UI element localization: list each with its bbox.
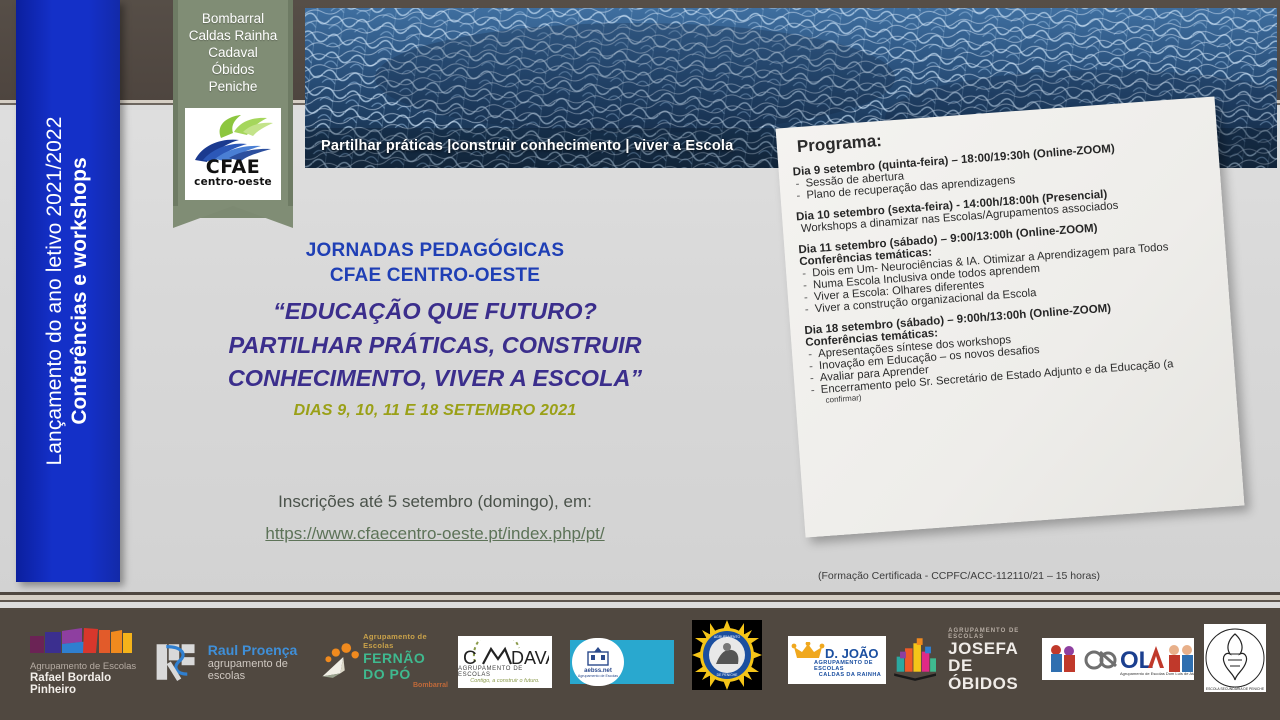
slide-canvas: Partilhar práticas |construir conhecimen… <box>0 0 1280 720</box>
registration-text: Inscrições até 5 setembro (domingo), em: <box>150 492 720 512</box>
logo-rafael-bordalo-pinheiro: Agrupamento de Escolas Rafael Bordalo Pi… <box>22 632 150 692</box>
town-item: Caldas Rainha <box>173 27 293 44</box>
logo-caption-sub: CALDAS DA RAINHA <box>819 672 881 678</box>
logo-caption-sub: DE ÓBIDOS <box>948 657 1040 692</box>
logo-dom-joao-ii: D. JOÃO II AGRUPAMENTO DE ESCOLAS CALDAS… <box>788 636 886 684</box>
crown-icon: D. JOÃO II <box>791 642 883 660</box>
cfae-logo: CFAE centro-oeste <box>185 108 281 200</box>
logo-caption-top: Raul Proença <box>208 642 305 658</box>
town-item: Bombarral <box>173 10 293 27</box>
logo-caption-top: AGRUPAMENTO DE ESCOLAS <box>814 660 886 672</box>
aebss-crest-icon <box>585 646 611 668</box>
program-panel: Programa: Dia 9 setembro (quinta-feira) … <box>776 96 1245 537</box>
partner-logos: Agrupamento de Escolas Rafael Bordalo Pi… <box>0 608 1280 720</box>
ribbon-town-list: Bombarral Caldas Rainha Cadaval Óbidos P… <box>173 10 293 95</box>
logo-caption-sub: Bombarral <box>363 682 448 689</box>
event-theme-line-2: PARTILHAR PRÁTICAS, CONSTRUIR <box>150 329 720 363</box>
title-block: JORNADAS PEDAGÓGICAS CFAE CENTRO-OESTE “… <box>150 238 720 420</box>
logo-raul-proenca: Raul Proença agrupamento de escolas <box>155 634 305 690</box>
logo-caption-main: AGRUPAMENTO <box>714 635 741 639</box>
logo-caption-sub: Agrupamento de Escolas <box>578 674 618 678</box>
logo-agrupamento-peniche: AGRUPAMENTO DE PENICHE <box>692 620 762 690</box>
peniche-sun-crest-icon: AGRUPAMENTO DE PENICHE <box>692 620 762 690</box>
side-banner: Lançamento do ano letivo 2021/2022 Confe… <box>16 0 120 582</box>
ribbon-tail <box>173 206 293 228</box>
town-item: Óbidos <box>173 61 293 78</box>
logo-escola-secundaria-peniche: ESCOLA SECUNDÁRIA DE PENICHE <box>1204 624 1266 692</box>
cadaval-mark: C DAVAL <box>461 640 549 666</box>
logo-caption-main: agrupamento de escolas <box>208 658 305 682</box>
logo-caption-top: Agrupamento de Escolas <box>30 661 150 672</box>
escola-secundaria-peniche-crest-icon: ESCOLA SECUNDÁRIA DE PENICHE <box>1204 624 1266 692</box>
event-title-line-1: JORNADAS PEDAGÓGICAS <box>150 238 720 263</box>
svg-text:DE PENICHE: DE PENICHE <box>717 673 738 677</box>
logo-aebss: aebss.net Agrupamento de Escolas <box>570 640 674 684</box>
svg-text:Agrupamento de Escolas Dom Luí: Agrupamento de Escolas Dom Luís de Ataíd… <box>1120 671 1194 676</box>
logo-caption-top: Agrupamento de Escolas <box>363 632 448 650</box>
logo-caption-main: Rafael Bordalo Pinheiro <box>30 672 150 696</box>
logo-caption-main: JOSEFA <box>948 640 1040 657</box>
svg-text:DAVAL: DAVAL <box>511 648 549 666</box>
side-banner-text: Lançamento do ano letivo 2021/2022 Confe… <box>16 0 120 582</box>
rafael-bordalo-pinheiro-mark <box>30 628 142 654</box>
logo-fernao-do-po: Agrupamento de Escolas FERNÃO DO PÓ Bomb… <box>318 632 448 688</box>
town-item: Peniche <box>173 78 293 95</box>
logo-caption-main: OL <box>1120 647 1153 674</box>
logo-caption-sub: Contigo, a construir o futuro. <box>470 678 539 684</box>
cfae-logo-name: CFAE <box>185 156 281 178</box>
event-dates: DIAS 9, 10, 11 E 18 SETEMBRO 2021 <box>150 402 720 420</box>
logo-cadaval: C DAVAL AGRUPAMENTO DE ESCOLAS Contigo, … <box>458 636 552 688</box>
event-theme-line-1: “EDUCAÇÃO QUE FUTURO? <box>150 295 720 329</box>
cfae-ribbon-badge: Bombarral Caldas Rainha Cadaval Óbidos P… <box>173 0 293 218</box>
ola-mark: OL Agrupamento de Escolas Dom Luís de At… <box>1042 638 1194 680</box>
town-item: Cadaval <box>173 44 293 61</box>
registration-link[interactable]: https://www.cfaecentro-oeste.pt/index.ph… <box>150 524 720 544</box>
svg-text:C: C <box>463 648 477 666</box>
svg-text:D. JOÃO II: D. JOÃO II <box>825 646 883 660</box>
event-title-line-2: CFAE CENTRO-OESTE <box>150 263 720 288</box>
side-banner-line-1: Lançamento do ano letivo 2021/2022 <box>43 117 68 466</box>
logo-josefa-de-obidos: AGRUPAMENTO DE ESCOLAS JOSEFA DE ÓBIDOS <box>890 630 1040 690</box>
logo-caption-top: AGRUPAMENTO DE ESCOLAS <box>458 666 552 678</box>
fernao-do-po-mark <box>318 634 361 686</box>
event-theme-line-3: CONHECIMENTO, VIVER A ESCOLA” <box>150 362 720 396</box>
svg-text:ESCOLA SECUNDÁRIA DE PENICHE: ESCOLA SECUNDÁRIA DE PENICHE <box>1206 687 1265 691</box>
side-banner-line-2: Conferências e workshops <box>68 157 93 424</box>
josefa-de-obidos-mark <box>890 632 940 688</box>
cfae-logo-subtitle: centro-oeste <box>185 176 281 188</box>
logo-ola-dom-luis-ataide: OL Agrupamento de Escolas Dom Luís de At… <box>1042 638 1194 680</box>
logo-caption-main: FERNÃO DO PÓ <box>363 650 448 682</box>
certification-note: (Formação Certificada - CCPFC/ACC-112110… <box>818 570 1100 582</box>
raul-proenca-mark <box>155 637 202 687</box>
